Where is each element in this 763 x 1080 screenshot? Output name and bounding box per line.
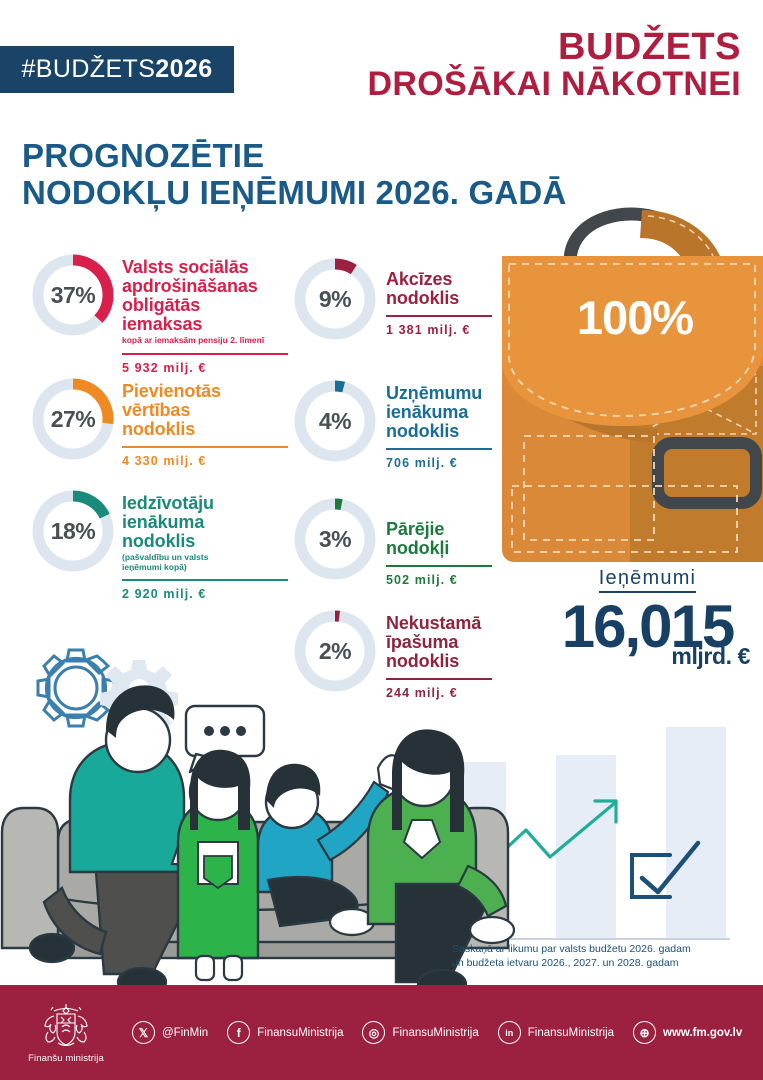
stat-amount: 4 330 milj. € [122, 454, 288, 468]
donut-percent: 27% [30, 376, 116, 462]
campaign-title-line1: BUDŽETS [368, 28, 741, 67]
revenue-block: Ieņēmumi 16,015 mljrd. € [540, 567, 755, 670]
stat-label: Iedzīvotāju ienākuma nodoklis [122, 494, 288, 551]
donut-percent: 4% [292, 378, 378, 464]
stat-body: Pievienotās vērtības nodoklis4 330 milj.… [122, 376, 288, 468]
stat-divider [386, 448, 492, 450]
social-link[interactable]: ⊕www.fm.gov.lv [633, 1021, 742, 1044]
social-link[interactable]: ◎FinansuMinistrija [362, 1021, 478, 1044]
infographic-canvas: #BUDŽETS2026 BUDŽETS DROŠĀKAI NĀKOTNEI P… [0, 0, 763, 1080]
social-handle[interactable]: FinansuMinistrija [528, 1027, 614, 1039]
social-link[interactable]: inFinansuMinistrija [498, 1021, 614, 1044]
stat-amount: 244 milj. € [386, 686, 492, 700]
ministry-name: Finanšu ministrija [28, 1053, 104, 1064]
stat-body: Valsts sociālās apdrošināšanas obligātās… [122, 252, 288, 375]
donut-chart: 9% [292, 256, 378, 342]
stat-card: 4%Uzņēmumu ienākuma nodoklis706 milj. € [292, 378, 492, 470]
stat-amount: 1 381 milj. € [386, 323, 492, 337]
stat-sublabel: (pašvaldību un valsts ieņēmumi kopā) [122, 553, 288, 572]
social-link[interactable]: 𝕏@FinMin [132, 1021, 208, 1044]
donut-percent: 3% [292, 496, 378, 582]
stat-amount: 5 932 milj. € [122, 361, 288, 375]
social-link[interactable]: fFinansuMinistrija [227, 1021, 343, 1044]
stat-label: Uzņēmumu ienākuma nodoklis [386, 384, 492, 441]
campaign-title-line2: DROŠĀKAI NĀKOTNEI [368, 67, 741, 102]
donut-chart: 2% [292, 608, 378, 694]
stat-amount: 706 milj. € [386, 456, 492, 470]
donut-chart: 3% [292, 496, 378, 582]
stat-card: 27%Pievienotās vērtības nodoklis4 330 mi… [30, 376, 288, 468]
donut-chart: 37% [30, 252, 116, 338]
footer-bar: Finanšu ministrija 𝕏@FinMinfFinansuMinis… [0, 985, 763, 1080]
hashtag-light: #BUDŽETS [22, 55, 156, 83]
stat-card: 2%Nekustamā īpašuma nodoklis244 milj. € [292, 608, 492, 700]
stat-body: Pārējie nodokļi502 milj. € [386, 496, 492, 587]
globe-icon[interactable]: ⊕ [633, 1021, 656, 1044]
stat-body: Akcīzes nodoklis1 381 milj. € [386, 256, 492, 337]
stat-label: Pievienotās vērtības nodoklis [122, 382, 288, 439]
social-handle[interactable]: FinansuMinistrija [257, 1027, 343, 1039]
stat-divider [386, 315, 492, 317]
x-twitter-icon[interactable]: 𝕏 [132, 1021, 155, 1044]
stat-divider [122, 353, 288, 355]
page-title-line1: PROGNOZĒTIE [22, 138, 566, 175]
briefcase-total-label: 100% [535, 290, 735, 345]
hashtag-bold: 2026 [155, 55, 212, 83]
stat-card: 37%Valsts sociālās apdrošināšanas obligā… [30, 252, 288, 375]
stat-card: 3%Pārējie nodokļi502 milj. € [292, 496, 492, 587]
campaign-title: BUDŽETS DROŠĀKAI NĀKOTNEI [368, 28, 741, 101]
donut-percent: 2% [292, 608, 378, 694]
footnote-text: Saskaņā ar likumu par valsts budžetu 202… [452, 942, 752, 970]
stat-label: Akcīzes nodoklis [386, 270, 492, 308]
stat-amount: 2 920 milj. € [122, 587, 288, 601]
donut-chart: 27% [30, 376, 116, 462]
donut-percent: 18% [30, 488, 116, 574]
donut-chart: 18% [30, 488, 116, 574]
stat-divider [122, 579, 288, 581]
stat-body: Iedzīvotāju ienākuma nodoklis(pašvaldību… [122, 488, 288, 601]
stat-amount: 502 milj. € [386, 573, 492, 587]
stat-label: Pārējie nodokļi [386, 520, 492, 558]
stat-sublabel: kopā ar iemaksām pensiju 2. līmenī [122, 336, 288, 346]
hashtag-badge: #BUDŽETS2026 [0, 46, 234, 93]
donut-chart: 4% [292, 378, 378, 464]
instagram-icon[interactable]: ◎ [362, 1021, 385, 1044]
social-handle[interactable]: www.fm.gov.lv [663, 1027, 742, 1039]
ministry-logo: Finanšu ministrija [0, 1002, 132, 1064]
revenue-label: Ieņēmumi [599, 567, 696, 593]
facebook-icon[interactable]: f [227, 1021, 250, 1044]
briefcase-illustration [482, 196, 763, 562]
stat-divider [122, 446, 288, 448]
stat-card: 18%Iedzīvotāju ienākuma nodoklis(pašvald… [30, 488, 288, 601]
linkedin-icon[interactable]: in [498, 1021, 521, 1044]
stat-body: Nekustamā īpašuma nodoklis244 milj. € [386, 608, 492, 700]
social-handle[interactable]: FinansuMinistrija [392, 1027, 478, 1039]
coat-of-arms-icon [36, 1002, 96, 1050]
stat-body: Uzņēmumu ienākuma nodoklis706 milj. € [386, 378, 492, 470]
stat-label: Nekustamā īpašuma nodoklis [386, 614, 492, 671]
donut-percent: 37% [30, 252, 116, 338]
social-handle[interactable]: @FinMin [162, 1027, 208, 1039]
donut-percent: 9% [292, 256, 378, 342]
stat-divider [386, 565, 492, 567]
stat-label: Valsts sociālās apdrošināšanas obligātās… [122, 258, 288, 334]
person-girl [178, 750, 258, 980]
gear-icon-outline [38, 650, 114, 726]
stat-divider [386, 678, 492, 680]
stat-card: 9%Akcīzes nodoklis1 381 milj. € [292, 256, 492, 342]
social-links: 𝕏@FinMinfFinansuMinistrija◎FinansuMinist… [132, 1021, 742, 1044]
